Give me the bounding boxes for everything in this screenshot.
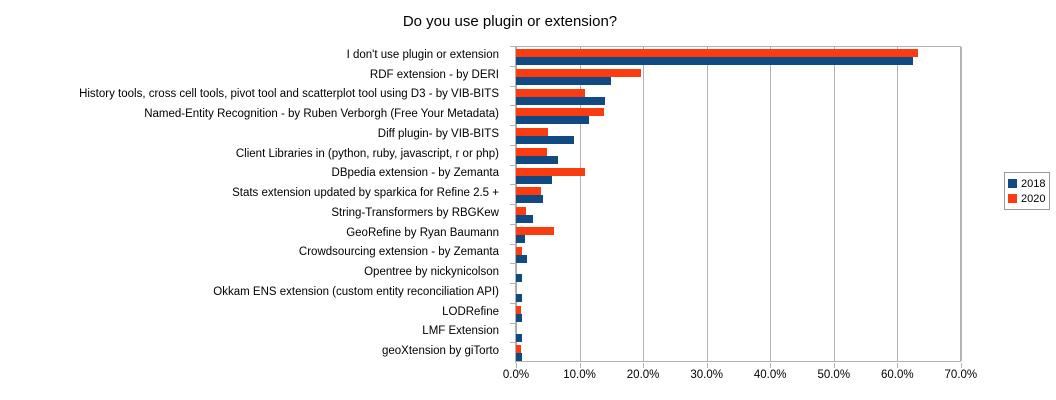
category-label: Okkam ENS extension (custom entity recon…	[0, 286, 504, 298]
bar-2020	[516, 69, 641, 77]
bar-2020	[516, 148, 547, 156]
value-tick-label: 40.0%	[754, 369, 787, 381]
bar-2020	[516, 187, 541, 195]
bar-2018	[516, 235, 525, 243]
category-axis-labels: I don't use plugin or extensionRDF exten…	[0, 46, 504, 362]
category-label: LMF Extension	[0, 325, 504, 337]
gridline-50.0	[834, 47, 835, 361]
chart-legend: 20182020	[1004, 172, 1050, 210]
gridline-30.0	[707, 47, 708, 361]
bar-2018	[516, 57, 913, 65]
plot-inner	[516, 47, 960, 361]
category-label: Diff plugin- by VIB-BITS	[0, 128, 504, 140]
category-label: String-Transformers by RBGKew	[0, 207, 504, 219]
bar-2018	[516, 116, 589, 124]
category-label: DBpedia extension - by Zemanta	[0, 167, 504, 179]
bar-2020	[516, 89, 585, 97]
category-label: Named-Entity Recognition - by Ruben Verb…	[0, 108, 504, 120]
value-tick	[834, 363, 835, 368]
category-label: Crowdsourcing extension - by Zemanta	[0, 246, 504, 258]
category-label: RDF extension - by DERI	[0, 69, 504, 81]
category-label: geoXtension by giTorto	[0, 345, 504, 357]
gridline-60.0	[897, 47, 898, 361]
value-tick	[961, 363, 962, 368]
value-tick	[770, 363, 771, 368]
legend-swatch-icon	[1008, 179, 1017, 188]
bar-2020	[516, 345, 521, 353]
category-label: History tools, cross cell tools, pivot t…	[0, 88, 504, 100]
bar-2020	[516, 128, 548, 136]
bar-2018	[516, 334, 522, 342]
value-tick-label: 0.0%	[503, 369, 529, 381]
gridline-20.0	[643, 47, 644, 361]
legend-item-2018[interactable]: 2018	[1008, 176, 1046, 191]
bar-2018	[516, 77, 611, 85]
category-label: I don't use plugin or extension	[0, 49, 504, 61]
value-tick-label: 10.0%	[563, 369, 596, 381]
category-label: Client Libraries in (python, ruby, javas…	[0, 148, 504, 160]
value-tick	[643, 363, 644, 368]
bar-2020	[516, 227, 554, 235]
bar-2018	[516, 314, 522, 322]
category-label: Opentree by nickynicolson	[0, 266, 504, 278]
bar-2020	[516, 49, 918, 57]
bar-2018	[516, 156, 558, 164]
gridline-70.0	[961, 47, 962, 361]
bar-2018	[516, 274, 522, 282]
bar-2018	[516, 195, 543, 203]
bar-2020	[516, 168, 585, 176]
value-tick	[897, 363, 898, 368]
bar-chart: Do you use plugin or extension? I don't …	[0, 0, 1056, 400]
bar-2018	[516, 255, 527, 263]
bar-2018	[516, 136, 574, 144]
chart-title: Do you use plugin or extension?	[0, 13, 1020, 30]
bar-2020	[516, 207, 526, 215]
legend-item-2020[interactable]: 2020	[1008, 191, 1046, 206]
bar-2020	[516, 108, 604, 116]
bar-2018	[516, 353, 522, 361]
value-tick-label: 60.0%	[881, 369, 914, 381]
value-tick	[580, 363, 581, 368]
gridline-40.0	[770, 47, 771, 361]
legend-swatch-icon	[1008, 194, 1017, 203]
value-tick	[516, 363, 517, 368]
value-tick-label: 30.0%	[690, 369, 723, 381]
value-tick-label: 50.0%	[817, 369, 850, 381]
bar-2020	[516, 247, 522, 255]
value-tick-label: 70.0%	[945, 369, 978, 381]
category-label: GeoRefine by Ryan Baumann	[0, 227, 504, 239]
bar-2020	[516, 306, 521, 314]
plot-area	[516, 46, 961, 362]
value-tick	[707, 363, 708, 368]
bar-2018	[516, 97, 605, 105]
value-tick-label: 20.0%	[627, 369, 660, 381]
bar-2018	[516, 215, 533, 223]
category-label: LODRefine	[0, 306, 504, 318]
bar-2018	[516, 294, 522, 302]
legend-label: 2020	[1021, 193, 1045, 205]
value-axis-labels: 0.0%10.0%20.0%30.0%40.0%50.0%60.0%70.0%	[0, 369, 1056, 385]
bar-2018	[516, 176, 552, 184]
legend-label: 2018	[1021, 178, 1045, 190]
category-label: Stats extension updated by sparkica for …	[0, 187, 504, 199]
